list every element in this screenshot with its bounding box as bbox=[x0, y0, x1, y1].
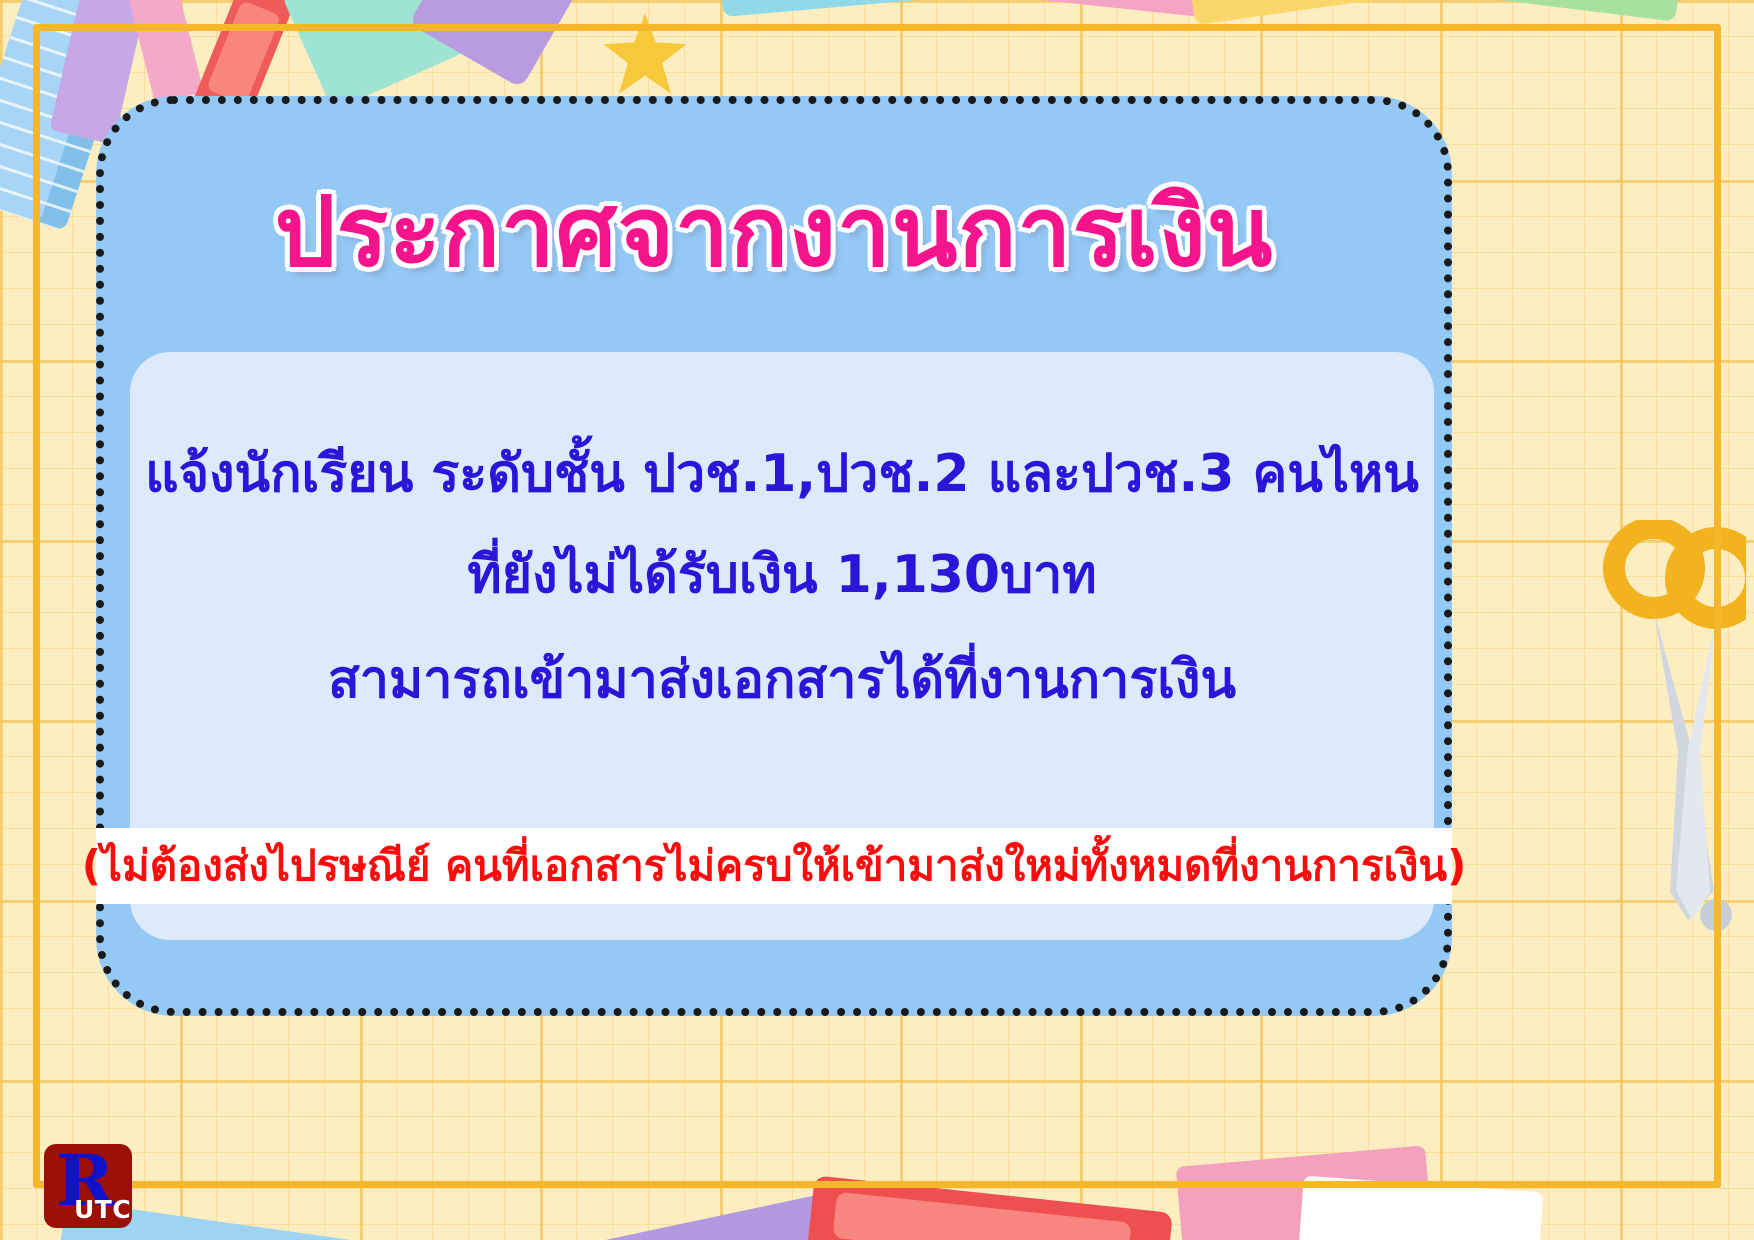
page-title: ประกาศจากงานการเงิน bbox=[104, 182, 1444, 283]
body-line-2: ที่ยังไม่ได้รับเงิน 1,130บาท bbox=[130, 549, 1434, 602]
utc-logo: R UTC bbox=[44, 1144, 132, 1228]
yellow-star-icon bbox=[600, 10, 690, 104]
body-line-1: แจ้งนักเรียน ระดับชั้น ปวช.1,ปวช.2 และปว… bbox=[130, 448, 1434, 501]
body-line-3: สามารถเข้ามาส่งเอกสารได้ที่งานการเงิน bbox=[130, 654, 1434, 707]
logo-utc-text: UTC bbox=[74, 1197, 131, 1222]
highlight-note-text: (ไม่ต้องส่งไปรษณีย์ คนที่เอกสารไม่ครบให้… bbox=[82, 845, 1467, 887]
highlight-note-band: (ไม่ต้องส่งไปรษณีย์ คนที่เอกสารไม่ครบให้… bbox=[96, 828, 1452, 904]
announcement-body-lines: แจ้งนักเรียน ระดับชั้น ปวช.1,ปวช.2 และปว… bbox=[130, 448, 1434, 707]
poster-root: ประกาศจากงานการเงิน แจ้งนักเรียน ระดับชั… bbox=[0, 0, 1754, 1240]
scissors-icon bbox=[1596, 520, 1746, 950]
